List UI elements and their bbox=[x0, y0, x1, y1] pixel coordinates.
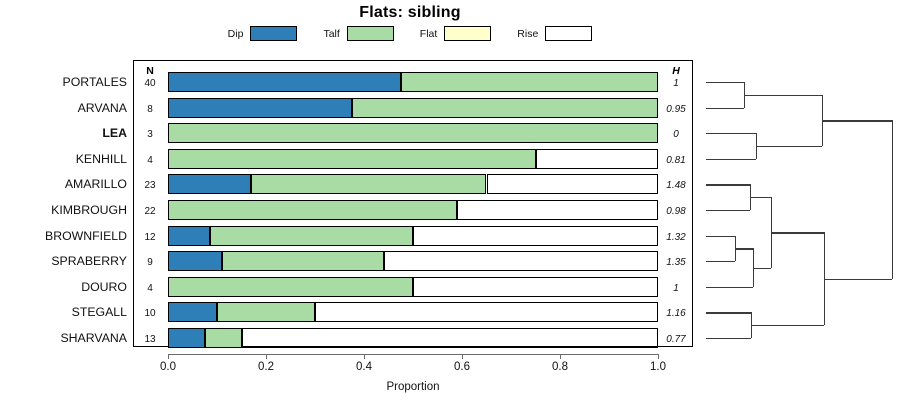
x-axis-tick bbox=[462, 354, 463, 359]
bar-segment-dip[interactable] bbox=[168, 72, 401, 92]
x-axis-line bbox=[168, 354, 658, 355]
table-row[interactable] bbox=[168, 277, 658, 297]
table-row[interactable] bbox=[168, 200, 658, 220]
bar-segment-rise[interactable] bbox=[413, 226, 658, 246]
x-axis-tick-label: 0.0 bbox=[138, 361, 198, 373]
x-axis-tick-label: 0.6 bbox=[432, 361, 492, 373]
dendrogram-branch bbox=[706, 312, 751, 313]
chart-root: Flats: sibling DipTalfFlatRise PORTALESA… bbox=[0, 0, 900, 420]
table-row[interactable] bbox=[168, 251, 658, 271]
bar-segment-talf[interactable] bbox=[210, 226, 413, 246]
bar-segment-talf[interactable] bbox=[222, 251, 384, 271]
bar-segment-rise[interactable] bbox=[315, 302, 658, 322]
dendrogram-branch bbox=[753, 268, 771, 269]
dendrogram-branch bbox=[706, 261, 735, 262]
bar-segment-dip[interactable] bbox=[168, 226, 210, 246]
dendrogram-branch bbox=[744, 95, 822, 96]
bar-segment-rise[interactable] bbox=[384, 251, 658, 271]
bar-segment-dip[interactable] bbox=[168, 98, 352, 118]
table-row[interactable] bbox=[168, 123, 658, 143]
bar-segment-rise[interactable] bbox=[242, 328, 659, 348]
x-axis-tick bbox=[266, 354, 267, 359]
x-axis-tick bbox=[658, 354, 659, 359]
dendrogram-branch bbox=[706, 338, 751, 339]
dendrogram bbox=[693, 60, 900, 347]
bar-segment-rise[interactable] bbox=[487, 174, 659, 194]
bar-segment-talf[interactable] bbox=[217, 302, 315, 322]
bar-segment-talf[interactable] bbox=[168, 149, 536, 169]
dendrogram-branch bbox=[771, 232, 824, 233]
table-row[interactable] bbox=[168, 149, 658, 169]
bar-segment-talf[interactable] bbox=[168, 200, 457, 220]
table-row[interactable] bbox=[168, 174, 658, 194]
dendrogram-branch bbox=[892, 120, 893, 278]
x-axis-tick-label: 1.0 bbox=[628, 361, 688, 373]
dendrogram-branch bbox=[751, 325, 824, 326]
table-row[interactable] bbox=[168, 72, 658, 92]
x-axis-tick bbox=[168, 354, 169, 359]
table-row[interactable] bbox=[168, 302, 658, 322]
dendrogram-branch bbox=[735, 248, 753, 249]
x-axis-tick-label: 0.4 bbox=[334, 361, 394, 373]
bar-segment-talf[interactable] bbox=[168, 277, 413, 297]
bar-segment-talf[interactable] bbox=[401, 72, 658, 92]
bar-segment-talf[interactable] bbox=[168, 123, 658, 143]
bar-segment-rise[interactable] bbox=[457, 200, 658, 220]
dendrogram-branch bbox=[706, 287, 753, 288]
x-axis-tick bbox=[560, 354, 561, 359]
bar-segment-dip[interactable] bbox=[168, 302, 217, 322]
dendrogram-branch bbox=[706, 82, 744, 83]
x-axis-tick-label: 0.8 bbox=[530, 361, 590, 373]
x-axis-tick-label: 0.2 bbox=[236, 361, 296, 373]
bar-segment-dip[interactable] bbox=[168, 174, 251, 194]
bar-segment-dip[interactable] bbox=[168, 251, 222, 271]
dendrogram-branch bbox=[750, 197, 771, 198]
x-axis-tick bbox=[364, 354, 365, 359]
table-row[interactable] bbox=[168, 98, 658, 118]
dendrogram-branch bbox=[706, 184, 750, 185]
table-row[interactable] bbox=[168, 328, 658, 348]
x-axis-title: Proportion bbox=[168, 381, 658, 393]
dendrogram-branch bbox=[824, 279, 892, 280]
bar-segment-rise[interactable] bbox=[536, 149, 659, 169]
dendrogram-branch bbox=[822, 120, 892, 121]
bar-segment-talf[interactable] bbox=[251, 174, 486, 194]
table-row[interactable] bbox=[168, 226, 658, 246]
bar-segment-talf[interactable] bbox=[352, 98, 658, 118]
dendrogram-branch bbox=[706, 236, 735, 237]
bar-segment-talf[interactable] bbox=[205, 328, 242, 348]
dendrogram-branch bbox=[756, 146, 822, 147]
bar-segment-rise[interactable] bbox=[413, 277, 658, 297]
dendrogram-branch bbox=[706, 108, 744, 109]
dendrogram-branch bbox=[706, 210, 750, 211]
bar-segment-dip[interactable] bbox=[168, 328, 205, 348]
dendrogram-branch bbox=[706, 159, 756, 160]
dendrogram-branch bbox=[706, 133, 756, 134]
